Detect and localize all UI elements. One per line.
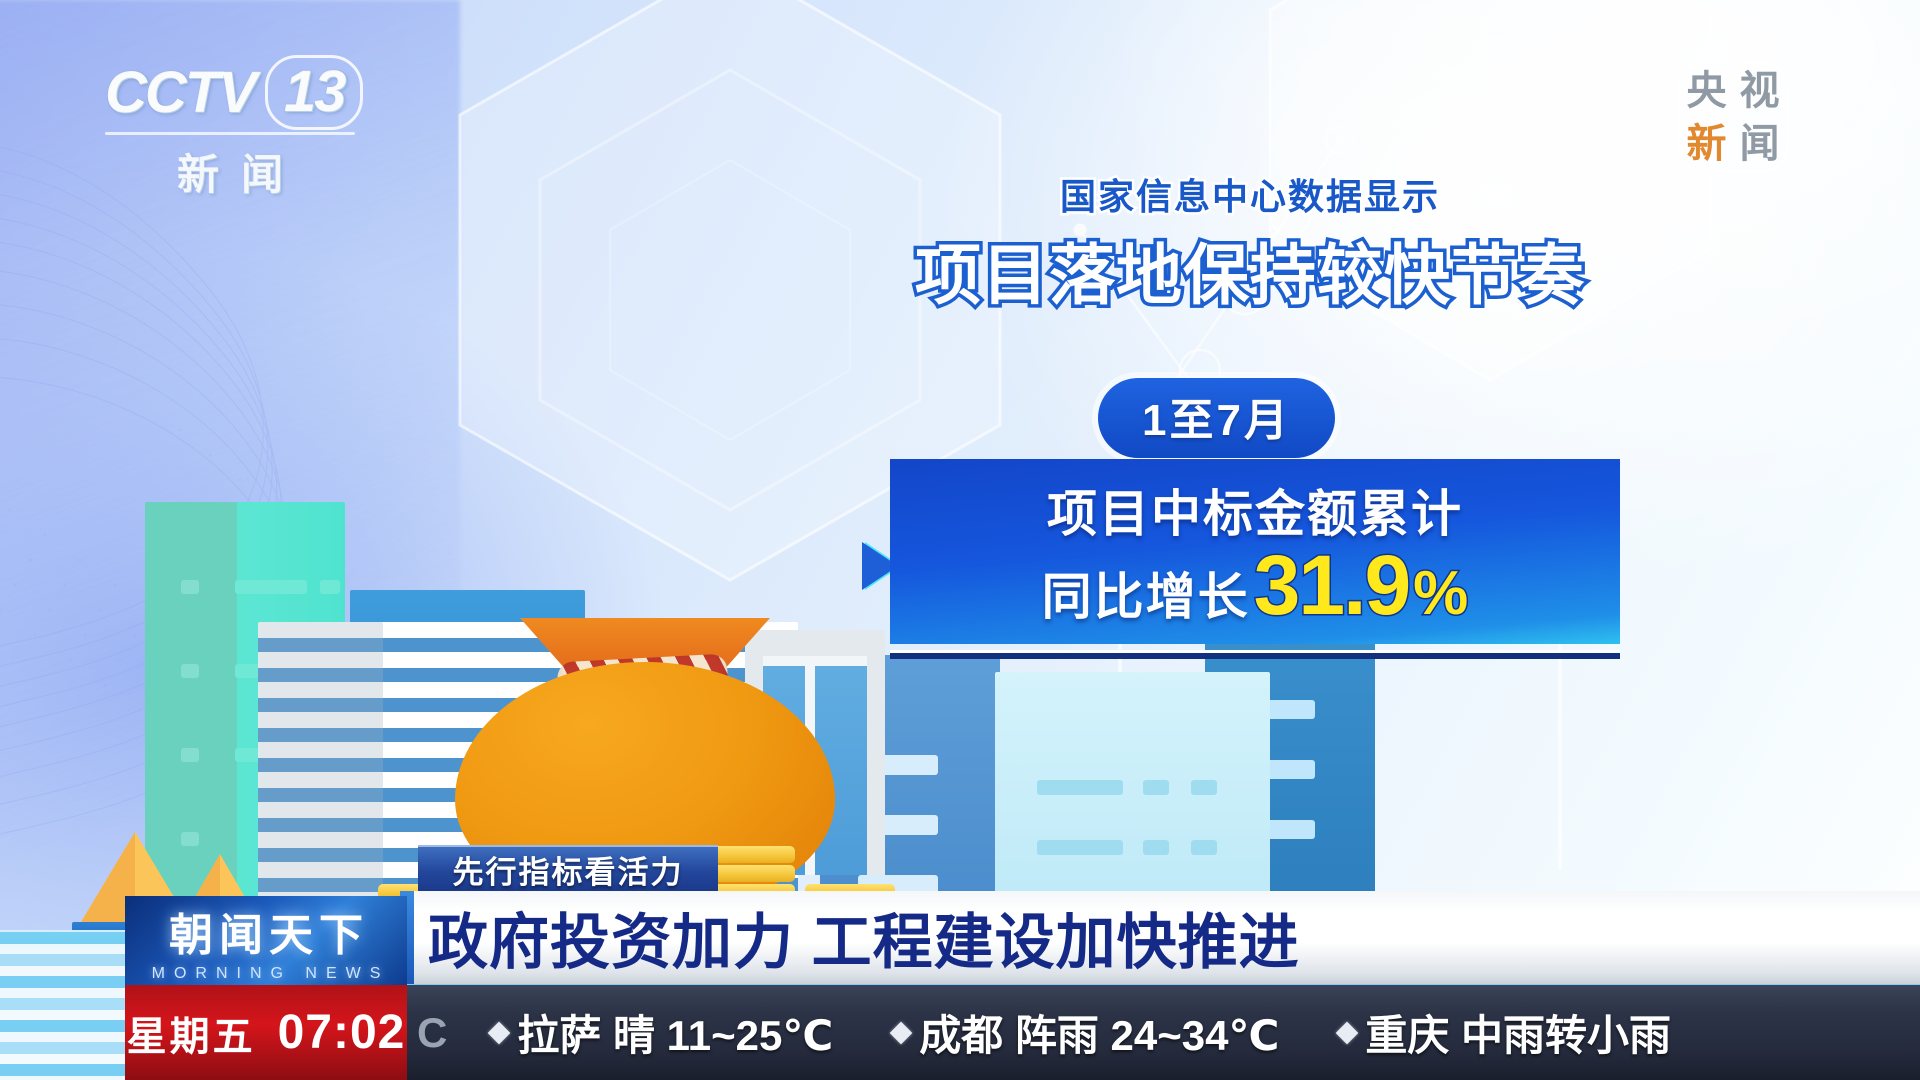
diamond-bullet-icon	[488, 1021, 511, 1044]
period-badge: 1至7月	[1098, 378, 1335, 458]
ticker-item-text: 重庆 中雨转小雨	[1365, 1002, 1671, 1063]
broadcast-frame: CCTV 13 新闻 央 视 新 闻 国家信息中心数据显示 项目落地保持较快节奏…	[0, 0, 1920, 1080]
data-box-line2: 同比增长 31.9 %	[1042, 548, 1469, 629]
graphic-kicker: 国家信息中心数据显示	[990, 168, 1510, 220]
ticker-item-text: 拉萨 晴 11~25℃	[517, 1002, 833, 1063]
cctv-logo-cn: 新闻	[105, 141, 355, 202]
program-logo-box: 朝闻天下 MORNING NEWS	[125, 896, 407, 985]
data-box-label: 同比增长	[1042, 557, 1250, 629]
program-name-en: MORNING NEWS	[143, 965, 390, 983]
app-logo-char-4: 闻	[1740, 124, 1780, 164]
program-name-cn: 朝闻天下	[163, 899, 369, 963]
ticker-item-list: 拉萨 晴 11~25℃成都 阵雨 24~34℃重庆 中雨转小雨	[491, 1002, 1731, 1063]
building-striped-shadow	[258, 622, 383, 922]
ticker-item: 重庆 中雨转小雨	[1339, 1002, 1671, 1063]
cctv-logo-rule	[105, 132, 355, 135]
data-highlight-box: 项目中标金额累计 同比增长 31.9 %	[890, 459, 1620, 644]
app-logo-char-1: 央	[1687, 71, 1727, 111]
graphic-headline: 项目落地保持较快节奏	[880, 222, 1620, 318]
app-logo-char-2: 视	[1740, 71, 1780, 111]
clock-box: 星期五 07:02	[125, 985, 407, 1080]
lower-third-headline: 政府投资加力 工程建设加快推进	[428, 894, 1300, 981]
data-box-line1: 项目中标金额累计	[1047, 474, 1463, 546]
cctv-news-app-logo: 央 视 新 闻	[1678, 62, 1788, 172]
cctv13-logo: CCTV 13 新闻	[105, 55, 355, 175]
clock-time: 07:02	[278, 1005, 406, 1060]
ticker-item: 拉萨 晴 11~25℃	[491, 1002, 833, 1063]
building-pale-cyan	[995, 672, 1270, 920]
ticker-item-text: 成都 阵雨 24~34℃	[919, 1002, 1279, 1063]
lower-third-bar: 政府投资加力 工程建设加快推进	[400, 891, 1920, 984]
cctv-channel-number: 13	[265, 55, 364, 130]
diamond-bullet-icon	[890, 1021, 913, 1044]
data-box-unit: %	[1413, 558, 1468, 629]
lower-third-tag: 先行指标看活力	[418, 845, 718, 891]
ticker-item: 成都 阵雨 24~34℃	[893, 1002, 1279, 1063]
cctv-wordmark: CCTV	[105, 59, 255, 126]
diamond-bullet-icon	[1336, 1021, 1359, 1044]
weather-ticker: C 拉萨 晴 11~25℃成都 阵雨 24~34℃重庆 中雨转小雨	[407, 985, 1920, 1080]
app-logo-char-3: 新	[1687, 124, 1727, 164]
ticker-leading-fragment: C	[417, 1009, 447, 1057]
weekday-label: 星期五	[127, 1004, 256, 1062]
data-box-underline	[890, 650, 1620, 659]
data-box-value: 31.9	[1254, 548, 1410, 624]
